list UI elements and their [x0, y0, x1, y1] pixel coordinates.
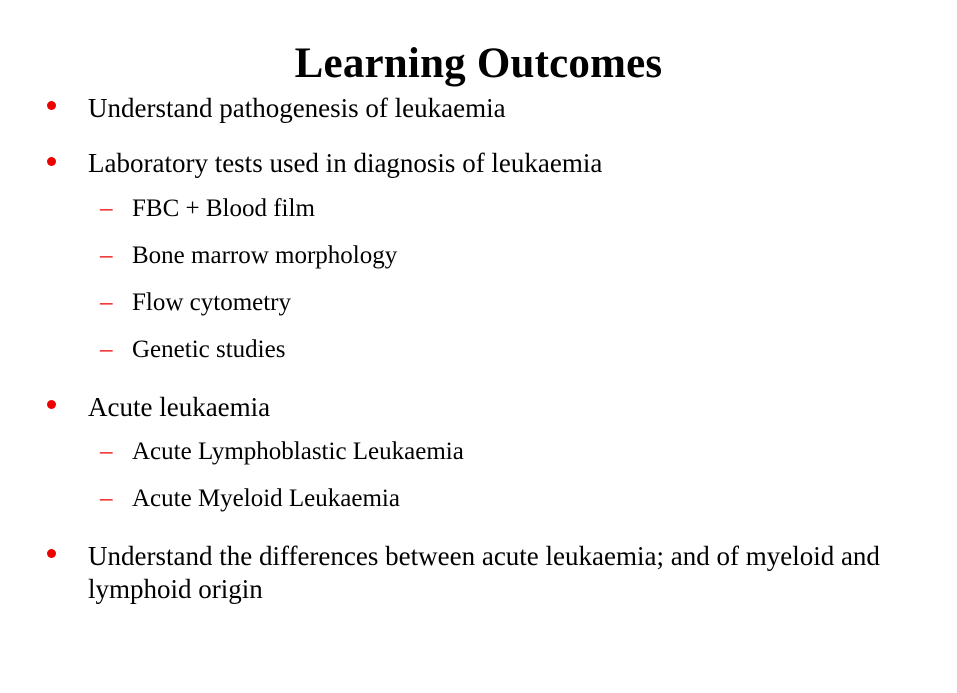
en-dash-icon: – — [100, 437, 126, 467]
list-item-label: Acute Lymphoblastic Leukaemia — [132, 437, 917, 467]
bullet-dot-icon — [47, 147, 67, 179]
en-dash-icon: – — [100, 288, 126, 318]
en-dash-icon: – — [100, 335, 126, 365]
en-dash-icon: – — [100, 484, 126, 514]
list-item: – Acute Myeloid Leukaemia — [0, 484, 957, 514]
list-item: – Flow cytometry — [0, 288, 957, 318]
list-item: Laboratory tests used in diagnosis of le… — [0, 147, 957, 179]
list-item-label: Acute leukaemia — [88, 391, 917, 423]
list-item-label: Genetic studies — [132, 335, 917, 365]
list-item-label: Understand the differences between acute… — [88, 540, 917, 605]
list-item: Understand pathogenesis of leukaemia — [0, 92, 957, 124]
list-item-label: Acute Myeloid Leukaemia — [132, 484, 917, 514]
list-item: – Genetic studies — [0, 335, 957, 365]
list-item: Acute leukaemia — [0, 391, 957, 423]
page-title: Learning Outcomes — [0, 39, 957, 90]
list-item-label: Flow cytometry — [132, 288, 917, 318]
list-item: – Acute Lymphoblastic Leukaemia — [0, 437, 957, 467]
bullet-dot-icon — [47, 391, 67, 423]
en-dash-icon: – — [100, 241, 126, 271]
presentation-slide: Learning Outcomes Understand pathogenesi… — [0, 0, 957, 693]
list-item-label: FBC + Blood film — [132, 194, 917, 224]
list-item: – FBC + Blood film — [0, 194, 957, 224]
en-dash-icon: – — [100, 194, 126, 224]
list-item-label: Bone marrow morphology — [132, 241, 917, 271]
list-item-label: Understand pathogenesis of leukaemia — [88, 92, 917, 124]
bullet-dot-icon — [47, 540, 67, 572]
list-item: Understand the differences between acute… — [0, 540, 957, 605]
bullet-dot-icon — [47, 92, 67, 124]
list-item-label: Laboratory tests used in diagnosis of le… — [88, 147, 917, 179]
outline-body-list: Understand pathogenesis of leukaemia Lab… — [0, 92, 957, 605]
list-item: – Bone marrow morphology — [0, 241, 957, 271]
